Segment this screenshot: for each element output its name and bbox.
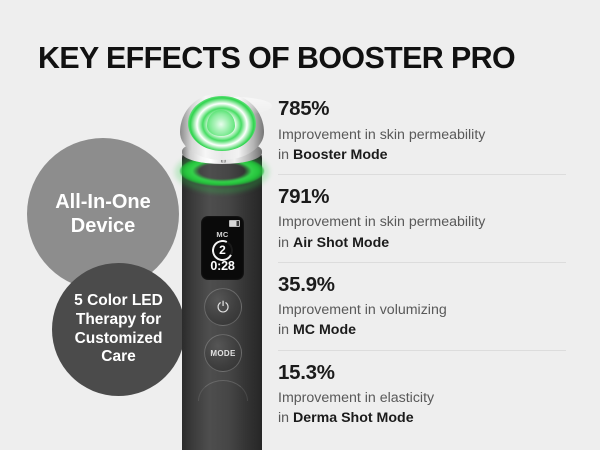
stat-description-text: Improvement in elasticity <box>278 390 434 406</box>
stat-description: Improvement in skin permeability in Boos… <box>278 125 566 165</box>
stat-value: 35.9% <box>278 274 566 297</box>
stat-description-in: in <box>278 235 293 251</box>
stat-item: 15.3% Improvement in elasticity in Derma… <box>278 350 566 438</box>
power-button[interactable]: ⏻ <box>204 288 242 326</box>
infographic-root: KEY EFFECTS OF BOOSTER PRO All-In-One De… <box>0 0 600 450</box>
stat-mode-name: MC Mode <box>293 322 356 338</box>
screen-timer: 0:28 <box>201 259 244 273</box>
device-illustration: MC 2 0:28 ⏻ MODE <box>168 92 278 450</box>
battery-icon <box>229 220 240 227</box>
stat-mode-name: Air Shot Mode <box>293 235 389 251</box>
stat-description-in: in <box>278 322 293 338</box>
stat-item: 785% Improvement in skin permeability in… <box>278 98 566 174</box>
mode-button-label: MODE <box>210 349 235 358</box>
stat-description-text: Improvement in skin permeability <box>278 214 485 230</box>
badge-led-therapy-label: 5 Color LED Therapy for Customized Care <box>52 292 185 368</box>
stat-value: 791% <box>278 186 566 209</box>
stat-description-text: Improvement in skin permeability <box>278 127 485 143</box>
stat-item: 791% Improvement in skin permeability in… <box>278 174 566 262</box>
stat-value: 785% <box>278 98 566 121</box>
stat-item: 35.9% Improvement in volumizing in MC Mo… <box>278 262 566 350</box>
stat-description-in: in <box>278 147 293 163</box>
badge-led-therapy: 5 Color LED Therapy for Customized Care <box>52 263 185 396</box>
mode-button[interactable]: MODE <box>204 334 242 372</box>
screen-mode-label: MC <box>201 230 244 239</box>
stat-mode-name: Derma Shot Mode <box>293 410 414 426</box>
device-head-teardrop-icon <box>207 110 235 136</box>
screen-level-value: 2 <box>212 240 233 261</box>
stat-value: 15.3% <box>278 362 566 385</box>
stat-description: Improvement in volumizing in MC Mode <box>278 300 566 340</box>
stat-description-text: Improvement in volumizing <box>278 302 447 318</box>
stats-list: 785% Improvement in skin permeability in… <box>278 98 566 437</box>
device-screen: MC 2 0:28 <box>201 216 244 280</box>
page-title: KEY EFFECTS OF BOOSTER PRO <box>38 40 515 76</box>
stat-mode-name: Booster Mode <box>293 147 388 163</box>
power-icon: ⏻ <box>217 299 229 316</box>
stat-description-in: in <box>278 410 293 426</box>
stat-description: Improvement in elasticity in Derma Shot … <box>278 388 566 428</box>
stat-description: Improvement in skin permeability in Air … <box>278 212 566 252</box>
badge-all-in-one-label: All-In-One Device <box>27 190 179 239</box>
